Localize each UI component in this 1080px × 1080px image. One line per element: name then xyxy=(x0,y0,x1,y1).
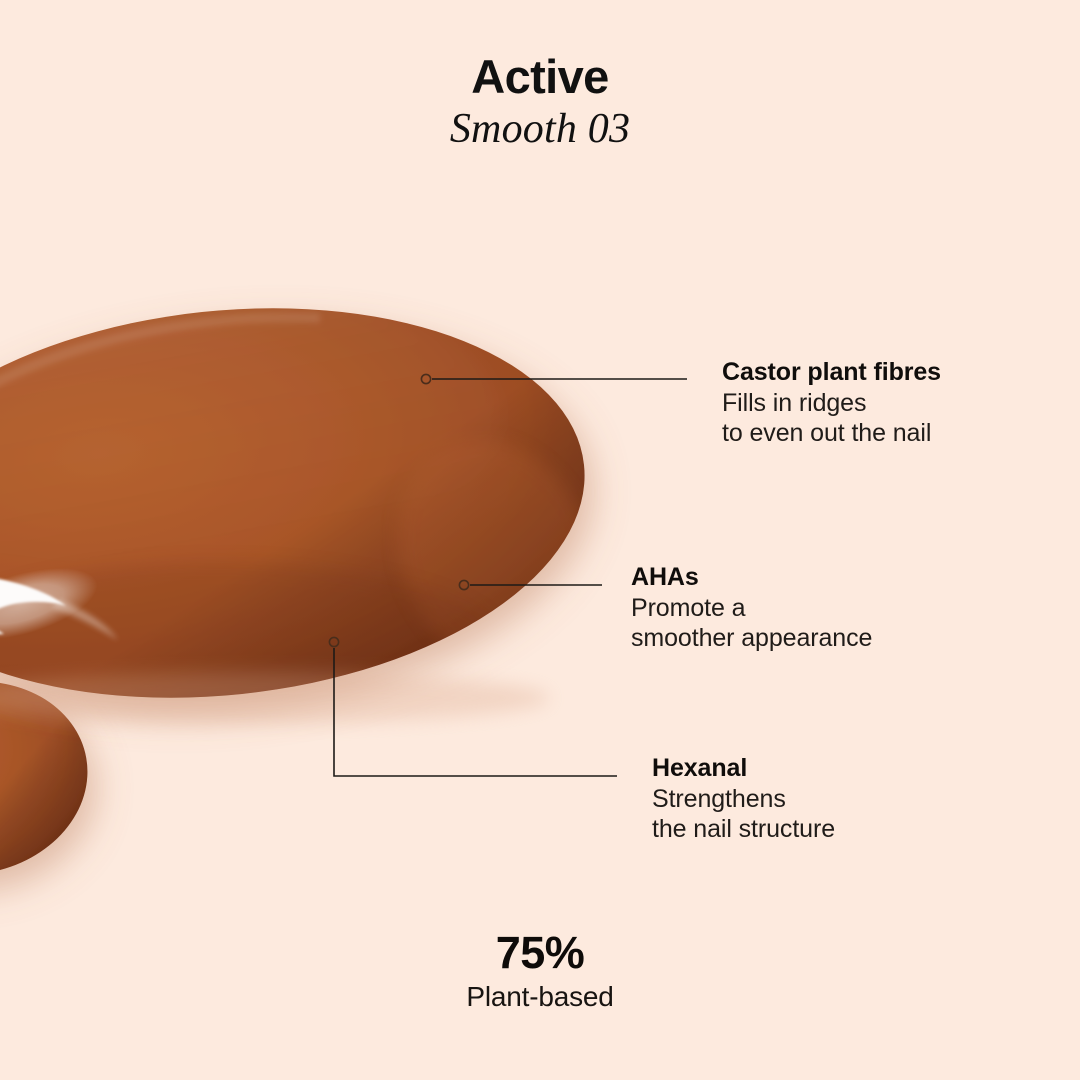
plant-based-stat: 75% Plant-based xyxy=(0,928,1080,1013)
callout-title: Castor plant fibres xyxy=(722,357,941,388)
callout-line-2: to even out the nail xyxy=(722,418,941,449)
leader-ahas xyxy=(459,580,602,589)
callout-title: AHAs xyxy=(631,562,872,593)
leader-dot-icon xyxy=(421,374,430,383)
callout-line-2: smoother appearance xyxy=(631,623,872,654)
callout-line-1: Fills in ridges xyxy=(722,388,941,419)
callout-line-2: the nail structure xyxy=(652,814,835,845)
infographic-canvas: Active Smooth 03 Castor plant fibres Fil… xyxy=(0,0,1080,1080)
callout-title: Hexanal xyxy=(652,753,835,784)
callout-line-1: Strengthens xyxy=(652,784,835,815)
callout-line-1: Promote a xyxy=(631,593,872,624)
leader-lines xyxy=(0,0,1080,1080)
stat-value: 75% xyxy=(0,928,1080,978)
stat-label: Plant-based xyxy=(0,980,1080,1013)
callout-ahas: AHAs Promote a smoother appearance xyxy=(631,562,872,654)
leader-castor xyxy=(421,374,687,383)
callout-hexanal: Hexanal Strengthens the nail structure xyxy=(652,753,835,845)
leader-hexanal xyxy=(329,637,617,776)
leader-dot-icon xyxy=(329,637,338,646)
callout-castor-plant-fibres: Castor plant fibres Fills in ridges to e… xyxy=(722,357,941,449)
leader-dot-icon xyxy=(459,580,468,589)
